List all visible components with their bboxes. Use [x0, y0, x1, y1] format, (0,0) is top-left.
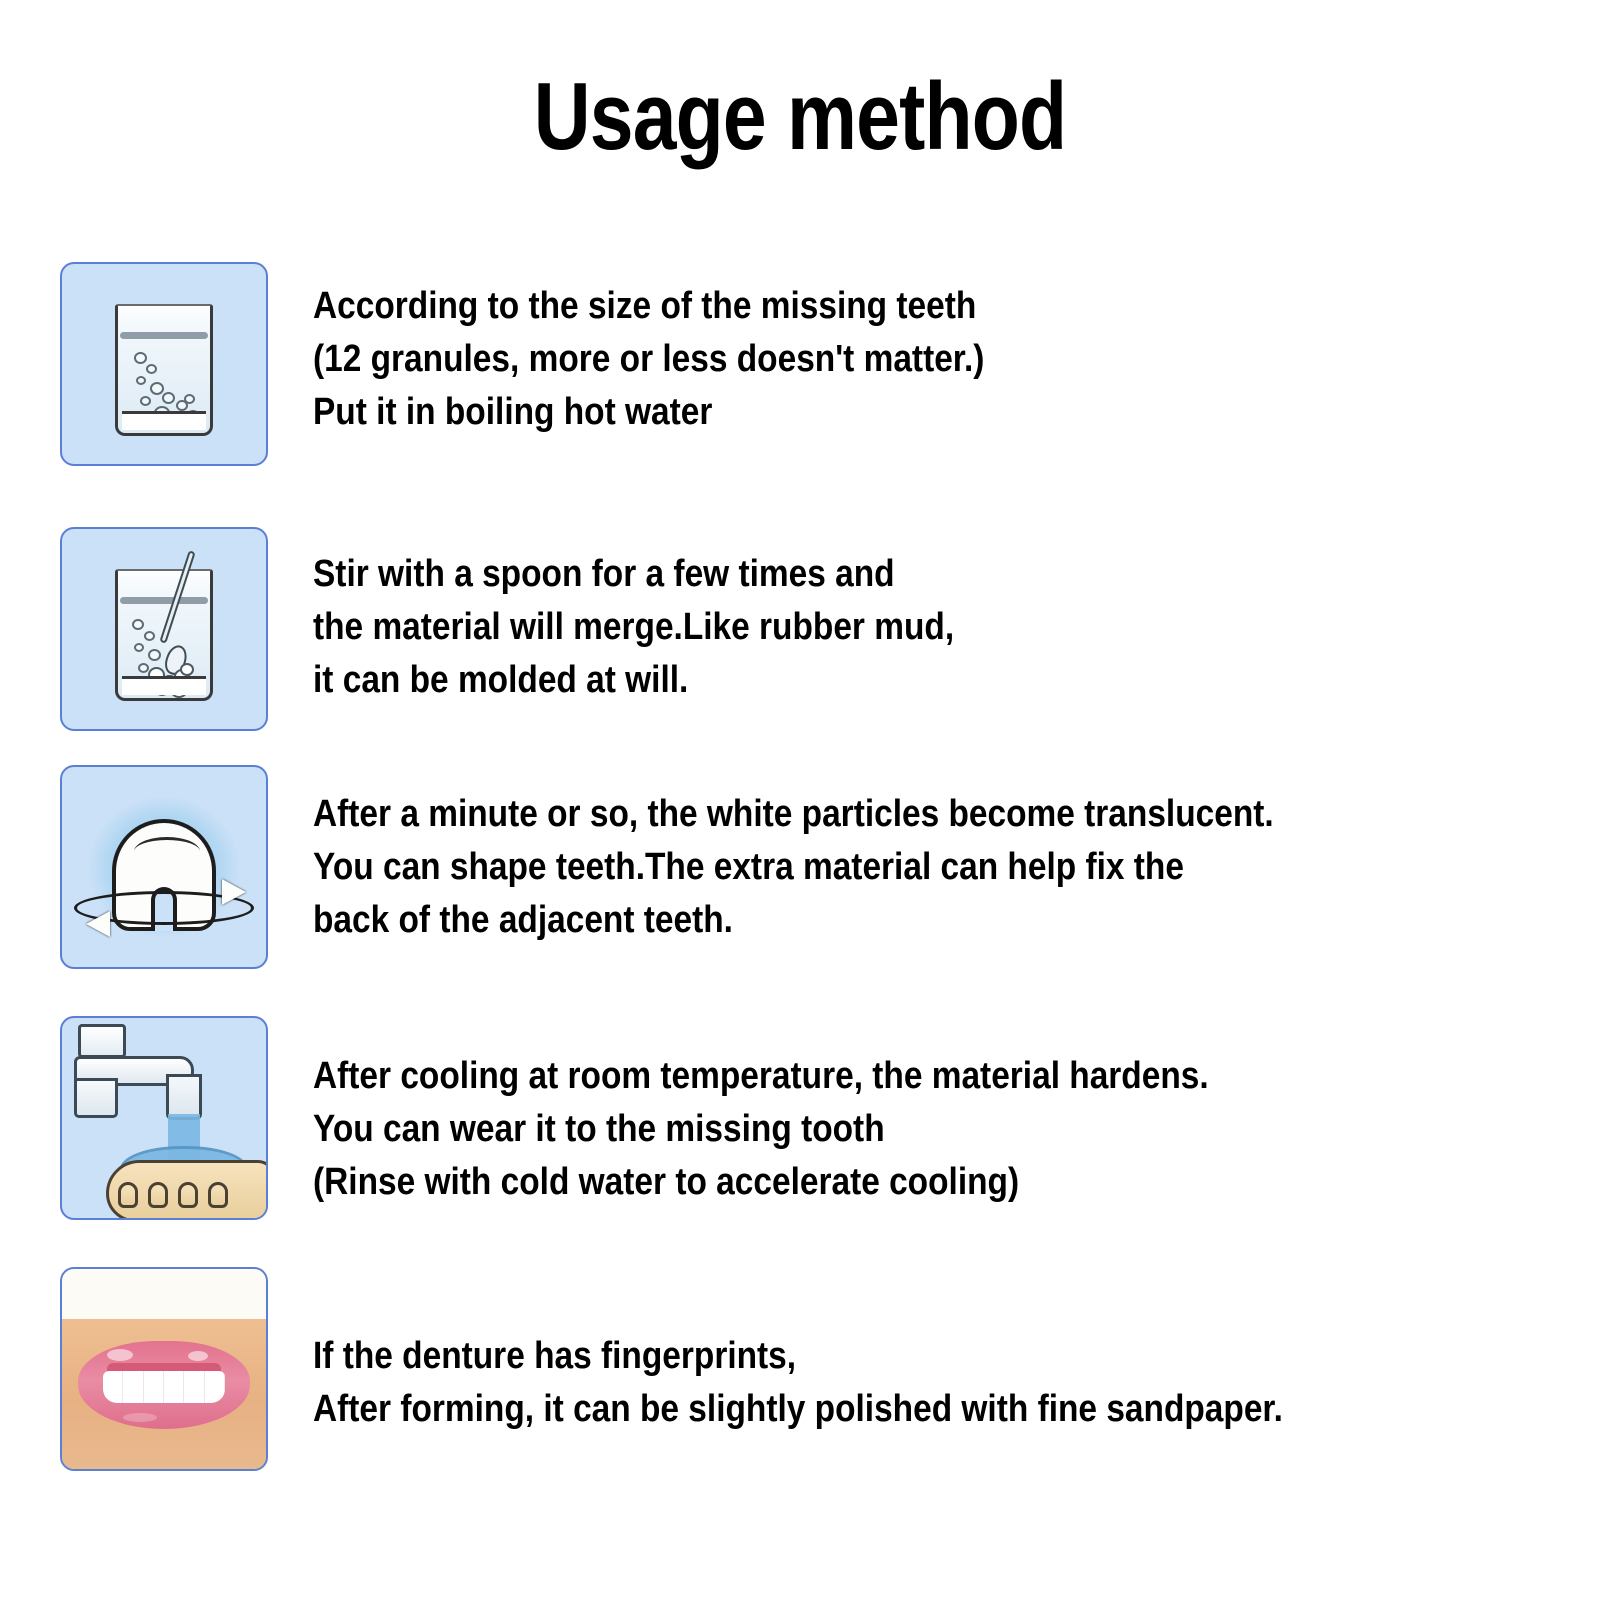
glass-of-water-icon [60, 262, 268, 466]
usage-step-5-text: If the denture has fingerprints, After f… [313, 1330, 1283, 1436]
usage-step-4-text: After cooling at room temperature, the m… [313, 1050, 1209, 1209]
faucet-rinsing-hands-icon [60, 1016, 268, 1220]
step-line: You can shape teeth.The extra material c… [313, 841, 1274, 894]
page-title: Usage method [144, 62, 1456, 172]
arrow-left-icon [86, 911, 110, 937]
usage-step-1-text: According to the size of the missing tee… [313, 280, 984, 439]
smiling-mouth-teeth-icon [60, 1267, 268, 1471]
step-line: You can wear it to the missing tooth [313, 1103, 1209, 1156]
step-line: According to the size of the missing tee… [313, 280, 984, 333]
step-line: (Rinse with cold water to accelerate coo… [313, 1156, 1209, 1209]
step-line: (12 granules, more or less doesn't matte… [313, 333, 984, 386]
arrow-right-icon [222, 879, 246, 905]
glass-with-spoon-icon [60, 527, 268, 731]
usage-step-3-text: After a minute or so, the white particle… [313, 788, 1274, 947]
usage-step-2-text: Stir with a spoon for a few times and th… [313, 548, 954, 707]
step-line: back of the adjacent teeth. [313, 894, 1274, 947]
step-line: After cooling at room temperature, the m… [313, 1050, 1209, 1103]
step-line: the material will merge.Like rubber mud, [313, 601, 954, 654]
step-line: If the denture has fingerprints, [313, 1330, 1283, 1383]
step-line: it can be molded at will. [313, 654, 954, 707]
step-line: After a minute or so, the white particle… [313, 788, 1274, 841]
tooth-shaping-icon [60, 765, 268, 969]
step-line: After forming, it can be slightly polish… [313, 1383, 1283, 1436]
step-line: Stir with a spoon for a few times and [313, 548, 954, 601]
step-line: Put it in boiling hot water [313, 386, 984, 439]
